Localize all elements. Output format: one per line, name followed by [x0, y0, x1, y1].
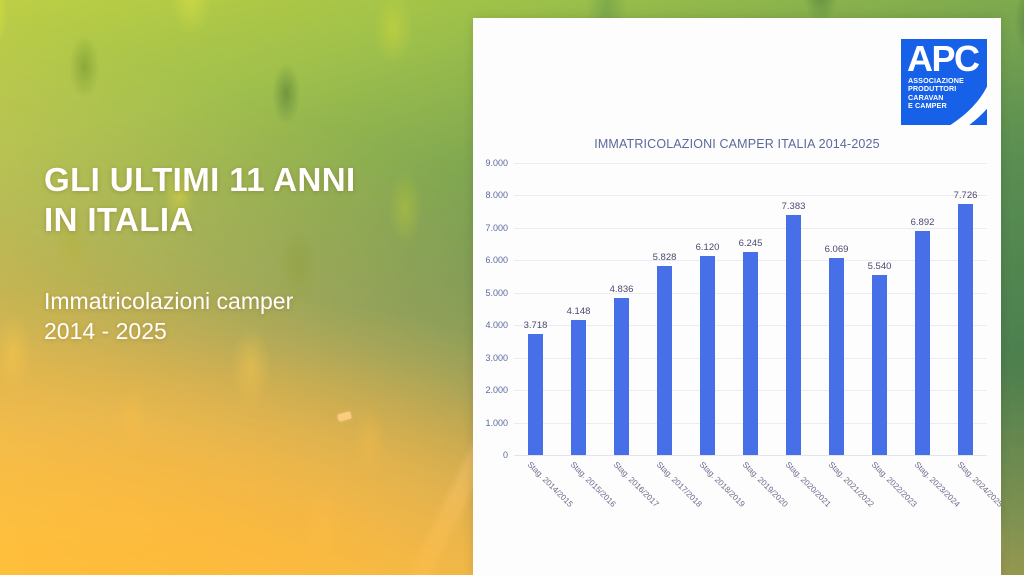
y-axis-tick-label: 5.000 — [485, 288, 508, 298]
apc-logo: APC ASSOCIAZIONE PRODUTTORI CARAVAN E CA… — [901, 39, 987, 125]
bar[interactable] — [958, 204, 973, 455]
bar-value-label: 4.148 — [567, 306, 591, 317]
slide-subheadline: Immatricolazioni camper 2014 - 2025 — [44, 286, 444, 346]
bar[interactable] — [614, 298, 629, 455]
x-axis-tick-label: Stag. 2016/2017 — [611, 460, 660, 509]
x-axis-tick-label: Stag. 2018/2019 — [697, 460, 746, 509]
bar-value-label: 7.383 — [782, 201, 806, 212]
bar-slot[interactable]: 6.245Stag. 2019/2020 — [729, 163, 772, 455]
y-axis-tick-label: 7.000 — [485, 223, 508, 233]
bar[interactable] — [657, 266, 672, 455]
bar-value-label: 5.828 — [653, 252, 677, 263]
bar-series: 3.718Stag. 2014/20154.148Stag. 2015/2016… — [514, 163, 987, 455]
headline-line-2: IN ITALIA — [44, 200, 444, 240]
bar[interactable] — [829, 258, 844, 455]
bar-value-label: 5.540 — [868, 261, 892, 272]
slide-headline: GLI ULTIMI 11 ANNI IN ITALIA — [44, 160, 444, 240]
y-axis-tick-label: 2.000 — [485, 385, 508, 395]
x-axis-tick-label: Stag. 2017/2018 — [654, 460, 703, 509]
bar-value-label: 6.120 — [696, 242, 720, 253]
y-axis-tick-label: 4.000 — [485, 320, 508, 330]
chart-panel: APC ASSOCIAZIONE PRODUTTORI CARAVAN E CA… — [473, 18, 1001, 575]
bar-value-label: 6.069 — [825, 244, 849, 255]
x-axis-tick-label: Stag. 2021/2022 — [826, 460, 875, 509]
bar-slot[interactable]: 3.718Stag. 2014/2015 — [514, 163, 557, 455]
chart-title: IMMATRICOLAZIONI CAMPER ITALIA 2014-2025 — [473, 137, 1001, 151]
bar[interactable] — [915, 231, 930, 455]
bar[interactable] — [872, 275, 887, 455]
x-axis-tick-label: Stag. 2019/2020 — [740, 460, 789, 509]
y-axis-tick-label: 1.000 — [485, 418, 508, 428]
bar-value-label: 7.726 — [954, 190, 978, 201]
y-axis-tick-label: 3.000 — [485, 353, 508, 363]
bar-value-label: 6.245 — [739, 238, 763, 249]
x-axis-tick-label: Stag. 2023/2024 — [912, 460, 961, 509]
bar-slot[interactable]: 6.120Stag. 2018/2019 — [686, 163, 729, 455]
bar-value-label: 3.718 — [524, 320, 548, 331]
bar[interactable] — [743, 252, 758, 455]
bar-slot[interactable]: 4.836Stag. 2016/2017 — [600, 163, 643, 455]
bar-slot[interactable]: 5.540Stag. 2022/2023 — [858, 163, 901, 455]
bar-slot[interactable]: 7.726Stag. 2024/2025 — [944, 163, 987, 455]
bar[interactable] — [528, 334, 543, 455]
subheadline-line-1: Immatricolazioni camper — [44, 286, 444, 316]
x-axis-tick-label: Stag. 2024/2025 — [955, 460, 1001, 509]
bar[interactable] — [786, 215, 801, 455]
x-axis-tick-label: Stag. 2015/2016 — [568, 460, 617, 509]
bar-slot[interactable]: 5.828Stag. 2017/2018 — [643, 163, 686, 455]
y-axis-tick-label: 6.000 — [485, 255, 508, 265]
slide-text-block: GLI ULTIMI 11 ANNI IN ITALIA Immatricola… — [44, 160, 444, 346]
bar[interactable] — [571, 320, 586, 455]
bar-value-label: 4.836 — [610, 284, 634, 295]
x-axis-tick-label: Stag. 2014/2015 — [525, 460, 574, 509]
bar-slot[interactable]: 6.069Stag. 2021/2022 — [815, 163, 858, 455]
gridline — [514, 455, 987, 456]
headline-line-1: GLI ULTIMI 11 ANNI — [44, 160, 444, 200]
bar[interactable] — [700, 256, 715, 455]
apc-wordmark: APC — [907, 41, 979, 77]
bar-slot[interactable]: 6.892Stag. 2023/2024 — [901, 163, 944, 455]
subheadline-line-2: 2014 - 2025 — [44, 316, 444, 346]
y-axis-tick-label: 8.000 — [485, 190, 508, 200]
y-axis-tick-label: 9.000 — [485, 158, 508, 168]
bar-value-label: 6.892 — [911, 217, 935, 228]
y-axis-tick-label: 0 — [503, 450, 508, 460]
apc-tagline: ASSOCIAZIONE PRODUTTORI CARAVAN E CAMPER — [908, 77, 964, 110]
bar-slot[interactable]: 7.383Stag. 2020/2021 — [772, 163, 815, 455]
plot-area: 9.0008.0007.0006.0005.0004.0003.0002.000… — [514, 163, 987, 455]
x-axis-tick-label: Stag. 2022/2023 — [869, 460, 918, 509]
bar-slot[interactable]: 4.148Stag. 2015/2016 — [557, 163, 600, 455]
x-axis-tick-label: Stag. 2020/2021 — [783, 460, 832, 509]
